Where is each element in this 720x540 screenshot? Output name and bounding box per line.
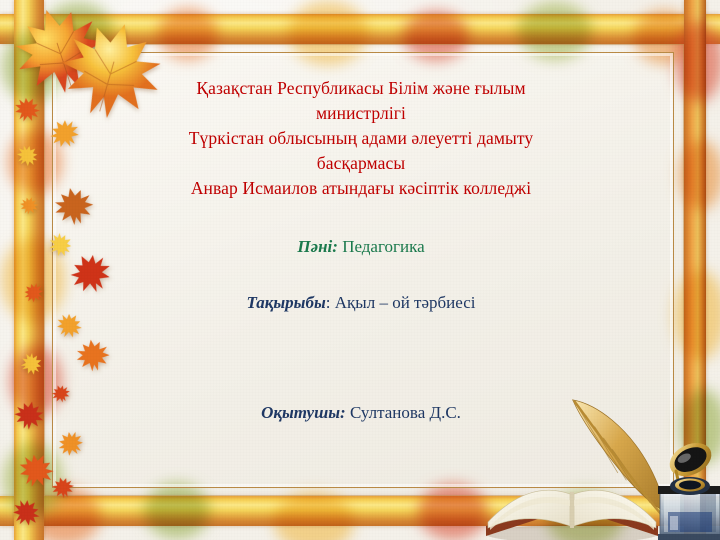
- teacher-line: Оқытушы: Султанова Д.С.: [261, 401, 461, 425]
- title-line-5: Анвар Исмаилов атындағы кәсіптік колледж…: [60, 176, 662, 201]
- teacher-value: Султанова Д.С.: [350, 403, 461, 422]
- slide-canvas: Қазақстан Республикасы Білім және ғылым …: [0, 0, 720, 540]
- institution-title-block: Қазақстан Республикасы Білім және ғылым …: [60, 76, 662, 201]
- topic-line: Тақырыбы: Ақыл – ой тәрбиесі: [247, 291, 476, 315]
- topic-value: Ақыл – ой тәрбиесі: [335, 293, 476, 312]
- maple-leaf-icon: [9, 397, 49, 435]
- teacher-label: Оқытушы:: [261, 403, 346, 422]
- topic-label: Тақырыбы: [247, 293, 326, 312]
- title-line-4: басқармасы: [60, 151, 662, 176]
- title-line-2: министрлігі: [60, 101, 662, 126]
- slide-content: Қазақстан Республикасы Білім және ғылым …: [60, 56, 662, 490]
- subject-label: Пәні:: [297, 237, 338, 256]
- title-line-3: Түркістан облысының адами әлеуетті дамыт…: [60, 126, 662, 151]
- subject-line: Пәні: Педагогика: [297, 235, 424, 259]
- subject-value: Педагогика: [342, 237, 424, 256]
- topic-separator: :: [326, 293, 331, 312]
- title-line-1: Қазақстан Республикасы Білім және ғылым: [60, 76, 662, 101]
